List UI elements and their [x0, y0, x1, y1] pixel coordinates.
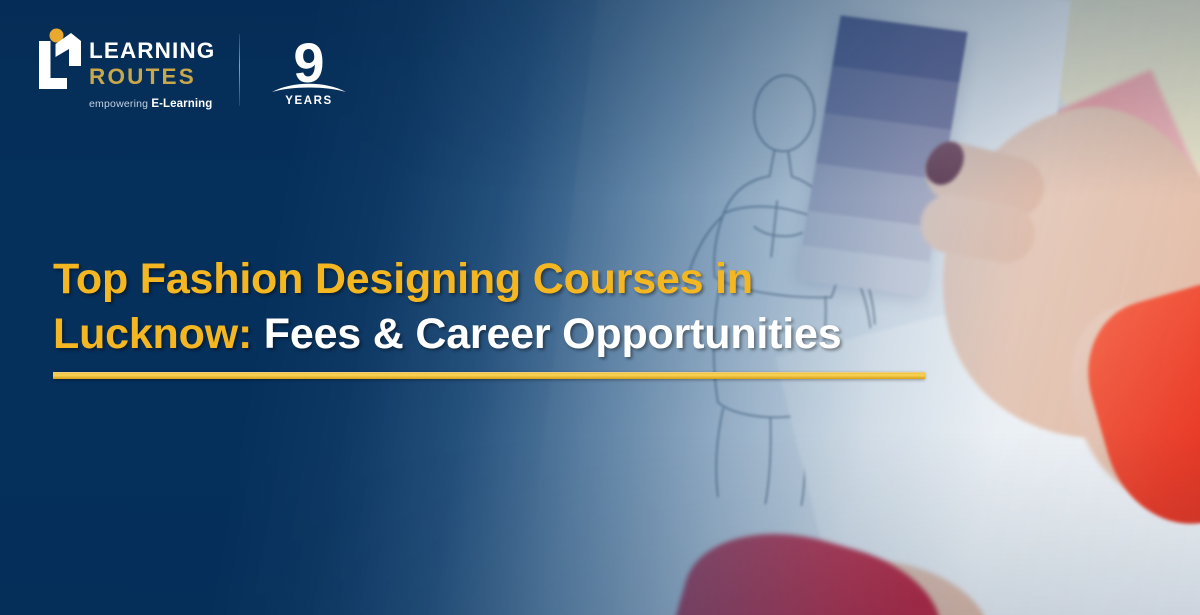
- brand-logo[interactable]: LEARNING ROUTES empowering E-Learning 9 …: [38, 28, 352, 112]
- logo-divider: [239, 34, 240, 106]
- page-title: Top Fashion Designing Courses in Lucknow…: [53, 252, 953, 362]
- svg-text:YEARS: YEARS: [286, 95, 334, 107]
- learning-routes-l-mark-icon: [38, 28, 82, 90]
- logo-lockup: LEARNING ROUTES empowering E-Learning: [38, 28, 215, 112]
- title-underline-rule: [53, 372, 925, 379]
- title-line-2: Lucknow: Fees & Career Opportunities: [53, 307, 953, 362]
- tagline-light: empowering: [89, 98, 151, 110]
- title-highlight-city: Lucknow:: [53, 310, 252, 358]
- hero-banner: LEARNING ROUTES empowering E-Learning 9 …: [0, 0, 1200, 615]
- title-line-1: Top Fashion Designing Courses in: [53, 252, 953, 307]
- logo-wordmark: LEARNING ROUTES empowering E-Learning: [89, 28, 215, 112]
- tagline-bold: E-Learning: [151, 98, 212, 110]
- logo-text-routes: ROUTES: [89, 66, 215, 89]
- anniversary-badge: 9 YEARS: [266, 32, 352, 108]
- logo-tagline: empowering E-Learning: [89, 94, 215, 112]
- title-line-2-text: Fees & Career Opportunities: [252, 310, 841, 358]
- title-line-1-text: Top Fashion Designing Courses in: [53, 255, 753, 303]
- logo-text-learning: LEARNING: [89, 40, 215, 63]
